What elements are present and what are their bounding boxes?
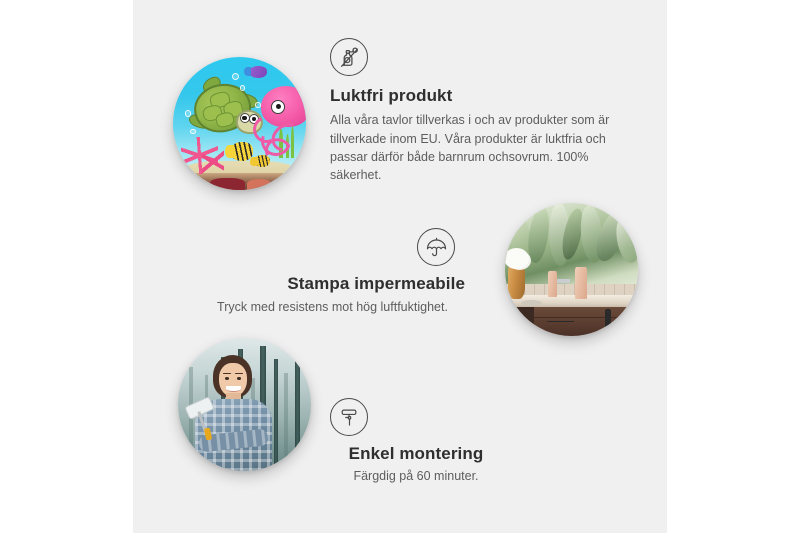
feature-waterproof: Stampa impermeabile Tryck med resistens …	[200, 228, 465, 317]
underwater-scene	[173, 57, 306, 190]
bubble	[255, 102, 260, 107]
leaf-wallpaper	[505, 203, 638, 293]
tree	[295, 351, 300, 471]
cabinet-side	[505, 307, 534, 336]
feature-title: Stampa impermeabile	[200, 274, 465, 294]
tree	[274, 359, 278, 471]
bathroom-scene	[505, 203, 638, 336]
product-feature-graphic: Luktfri produkt Alla våra tavlor tillver…	[0, 0, 800, 533]
no-fragrance-icon	[330, 38, 368, 76]
cabinet-handle	[547, 321, 574, 322]
feature-title: Luktfri produkt	[330, 86, 630, 106]
feature-odourless: Luktfri produkt Alla våra tavlor tillver…	[330, 38, 630, 184]
feature-icon-wrap	[200, 228, 465, 266]
fish-tail	[244, 67, 251, 75]
fish	[254, 155, 270, 167]
underwater-cartoon-image	[173, 57, 306, 190]
feature-body: Alla våra tavlor tillverkas i och av pro…	[330, 111, 630, 184]
umbrella-icon	[417, 228, 455, 266]
fish	[230, 142, 253, 161]
cabinet-handle	[605, 309, 611, 331]
fish-body	[249, 66, 268, 78]
fish-tail	[250, 157, 256, 165]
feature-body: Färgdig på 60 minuter.	[316, 467, 516, 485]
fish	[249, 66, 268, 78]
feature-icon-wrap	[316, 398, 516, 436]
coral	[202, 150, 223, 174]
cabinet-seam	[534, 317, 638, 319]
gold-vase	[508, 264, 525, 299]
eye	[237, 377, 242, 380]
sea-floor-rock	[247, 179, 271, 190]
woman-with-paint-roller-image	[178, 338, 311, 471]
vanity-cabinet	[534, 307, 638, 336]
octopus-eye	[271, 100, 285, 114]
bubble	[190, 129, 195, 134]
smile	[226, 386, 241, 392]
feature-body: Tryck med resistens mot hög luftfuktighe…	[200, 298, 465, 316]
fish-tail	[225, 145, 234, 158]
leaf	[526, 206, 550, 264]
tree	[284, 373, 287, 471]
forest-portrait-scene	[178, 338, 311, 471]
feature-title: Enkel montering	[316, 444, 516, 464]
bathroom-interior-image	[505, 203, 638, 336]
sea-floor-rock	[210, 178, 245, 190]
sea-floor-shell	[270, 181, 283, 189]
paint-roller-icon	[330, 398, 368, 436]
feature-easy-assembly: Enkel montering Färgdig på 60 minuter.	[316, 398, 516, 486]
soap-bottle	[575, 267, 587, 299]
eye	[225, 377, 230, 380]
soap-bottle	[548, 271, 557, 298]
bubble	[232, 73, 239, 80]
